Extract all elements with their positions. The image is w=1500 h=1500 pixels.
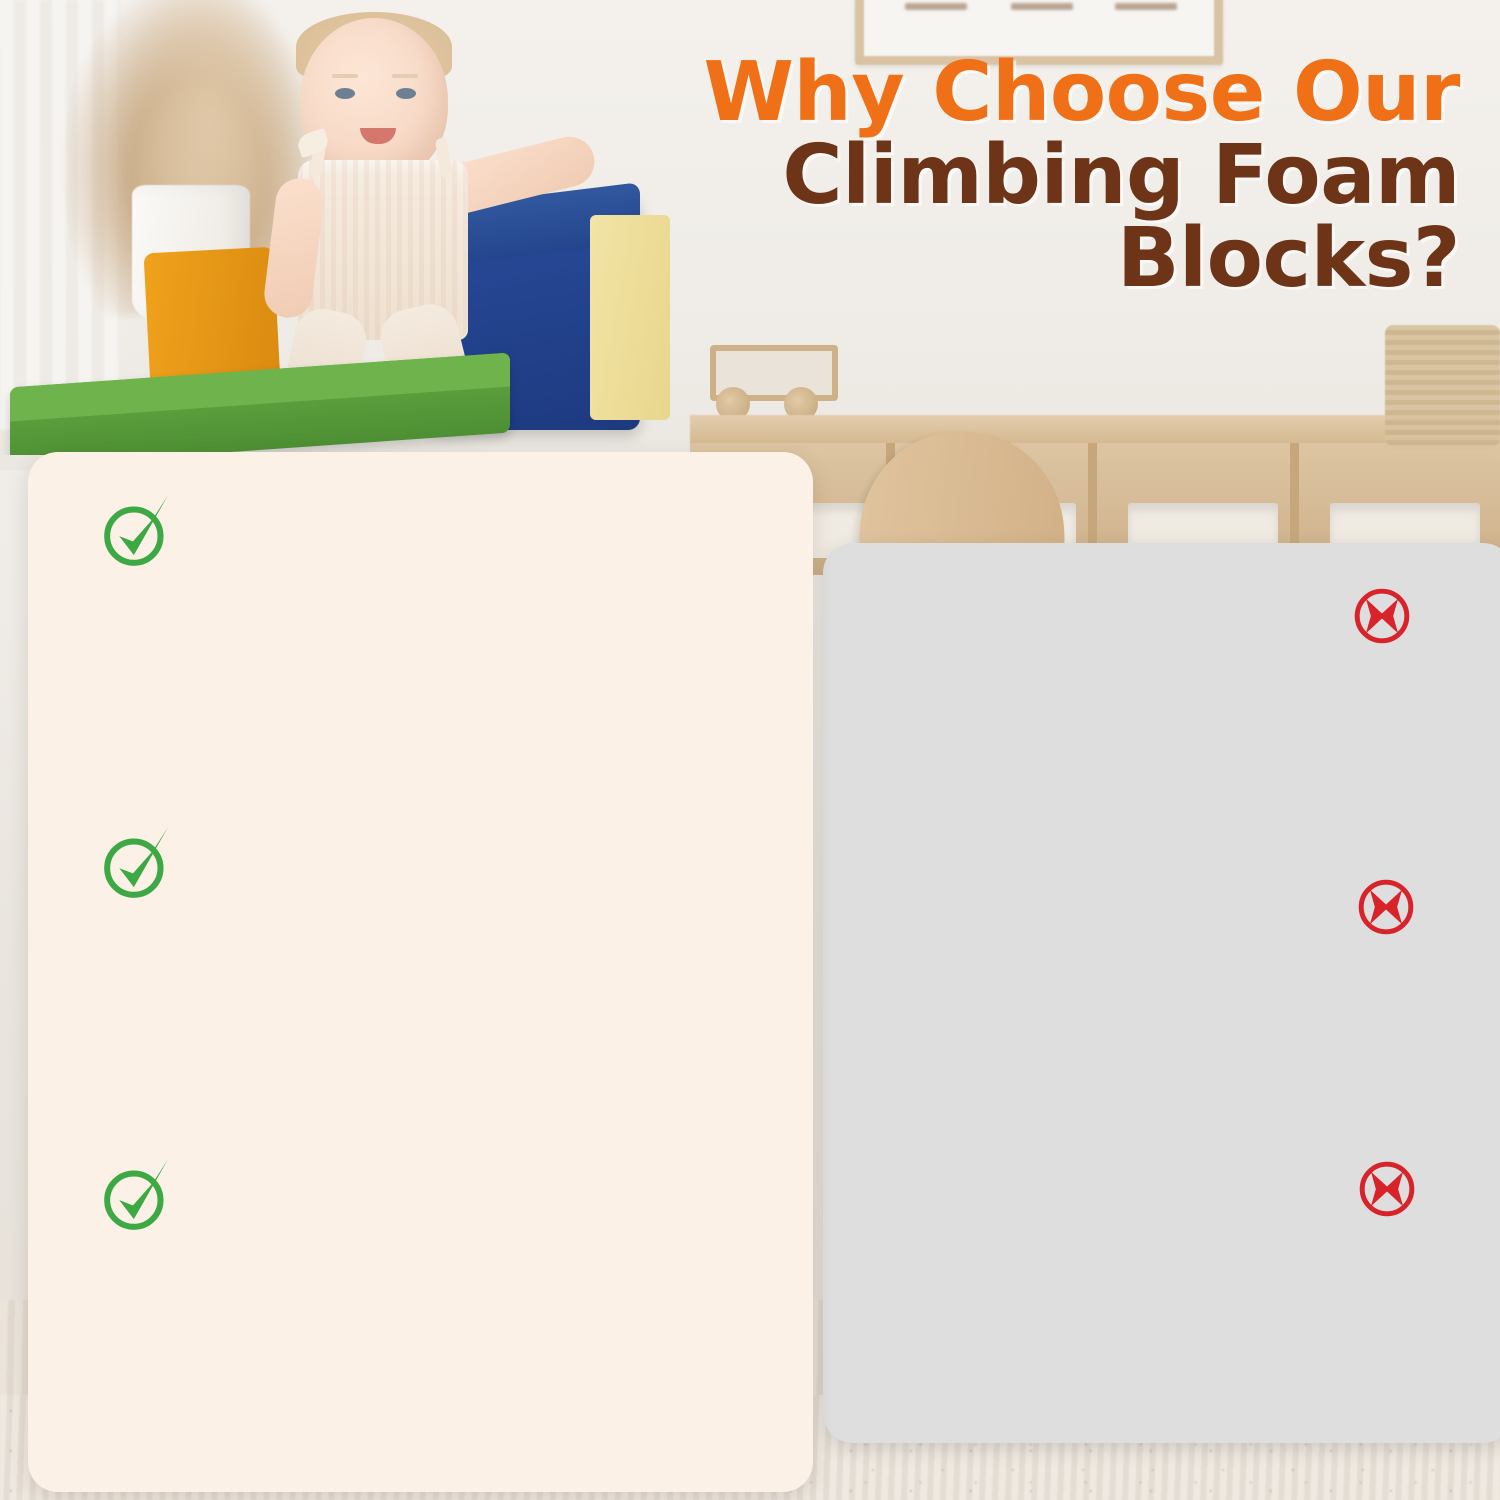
hero-photo-baby-on-blocks [0,0,700,455]
x-circle-icon [1355,876,1417,938]
baby-brow [392,74,418,78]
infographic-canvas: Why Choose Our Climbing Foam Blocks? Hig… [0,0,1500,1500]
x-circle-icon [1356,1158,1418,1220]
title-line-1: Why Choose Our [620,52,1460,135]
art-caption [1011,3,1073,10]
cons-card [823,543,1500,1443]
wooden-toy-car [710,345,830,420]
title-line-2: Climbing Foam [620,135,1460,218]
art-caption [905,3,967,10]
pros-card [28,452,813,1492]
check-circle-icon [96,1152,182,1238]
art-caption [1115,3,1177,10]
x-circle-icon [1351,585,1413,647]
woven-basket [1385,325,1500,450]
baby-eye [396,88,416,99]
baby-brow [332,74,358,78]
shelf-top [690,415,1500,445]
baby-eye [335,88,355,99]
check-circle-icon [96,488,182,574]
title-line-3: Blocks? [620,218,1460,301]
check-circle-icon [96,820,182,906]
page-title: Why Choose Our Climbing Foam Blocks? [620,52,1460,300]
